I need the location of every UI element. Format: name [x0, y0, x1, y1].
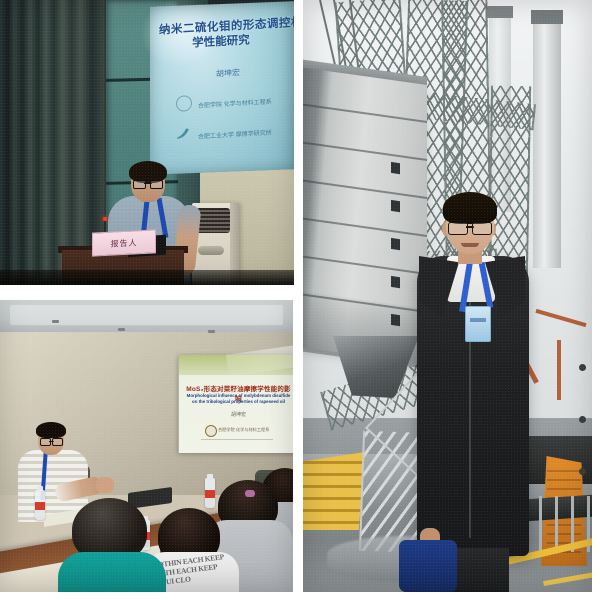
crane-column	[533, 18, 561, 268]
glasses-lens	[40, 438, 51, 446]
lecture-hall-scene: 纳米二硫化钼的形态调控机 学性能研究 胡坤宏 合肥学院 化学与材料工程系 合肥工…	[0, 0, 294, 285]
nameplate: 报告人	[92, 229, 156, 256]
seated-presenter-hair	[36, 422, 66, 438]
seminar-room-contents: MoS₂形态对菜籽油摩擦学性能的影响 Morphological influen…	[0, 300, 293, 592]
man-mouth	[461, 243, 479, 247]
coat-button	[579, 468, 586, 475]
glasses-lens	[150, 180, 163, 189]
counterweight-notch	[391, 276, 400, 288]
slide-header-band	[179, 355, 293, 375]
counterweight-notch	[391, 238, 400, 250]
photo-collage: 纳米二硫化钼的形态调控机 学性能研究 胡坤宏 合肥学院 化学与材料工程系 合肥工…	[0, 0, 600, 600]
crane-column-cap	[531, 10, 563, 24]
glasses-lens	[472, 222, 492, 235]
counterweight-slab	[303, 179, 427, 199]
slide-author: 胡坤宏	[188, 66, 268, 81]
water-bottle	[35, 490, 45, 520]
glasses-lens	[52, 438, 63, 446]
ac-panel	[198, 246, 224, 255]
coat-button	[579, 364, 586, 371]
counterweight-slab	[303, 103, 427, 123]
speaker-glasses-icon	[133, 180, 163, 187]
bottle-cap	[37, 486, 43, 491]
slide2-org: 合肥学院 化学与材料工程系	[218, 427, 269, 433]
photo-crane-site	[303, 0, 592, 592]
coat-button	[579, 416, 586, 423]
conference-badge	[465, 306, 491, 342]
glasses-lens	[133, 180, 146, 189]
counterweight-notch	[391, 162, 400, 174]
seated-presenter-glasses-icon	[40, 438, 63, 444]
slide-org-line1: 合肥学院 化学与材料工程系	[198, 96, 272, 109]
slide-org-line2: 合肥工业大学 摩擦学研究所	[198, 127, 272, 140]
water-bottle	[205, 478, 215, 508]
crane-column-cap	[486, 6, 513, 18]
seated-presenter-hand	[96, 477, 114, 493]
photo-lecture-hall: 纳米二硫化钼的形态调控机 学性能研究 胡坤宏 合肥学院 化学与材料工程系 合肥工…	[0, 0, 294, 285]
hair-tie	[245, 490, 255, 497]
man-hair	[443, 192, 497, 224]
university-seal-icon	[176, 95, 192, 112]
university-seal-icon	[205, 425, 217, 437]
rust-beam	[557, 340, 561, 400]
ac-grill	[196, 208, 230, 233]
projection-screen-2: MoS₂形态对菜籽油摩擦学性能的影响 Morphological influen…	[178, 355, 293, 453]
glasses-lens	[448, 222, 468, 235]
bottle-cap	[207, 474, 213, 479]
man-bag	[399, 540, 457, 592]
slide2-rule	[201, 439, 273, 440]
slide2-subtitle: Morphological influence of molybdenum di…	[185, 393, 292, 405]
institute-logo-icon	[175, 126, 191, 141]
counterweight-slab	[303, 141, 427, 161]
slide2-author: 胡坤宏	[183, 411, 293, 418]
counterweight-notch	[391, 200, 400, 212]
yellow-blocks	[303, 452, 365, 530]
foreground-shadow	[0, 270, 294, 285]
counterweight-slab	[303, 217, 427, 237]
nameplate-text: 报告人	[111, 237, 138, 249]
counterweight-slab	[303, 255, 427, 275]
projection-screen: 纳米二硫化钼的形态调控机 学性能研究 胡坤宏 合肥学院 化学与材料工程系 合肥工…	[150, 1, 294, 175]
man-glasses-icon	[448, 222, 492, 233]
audience-body	[58, 552, 166, 592]
